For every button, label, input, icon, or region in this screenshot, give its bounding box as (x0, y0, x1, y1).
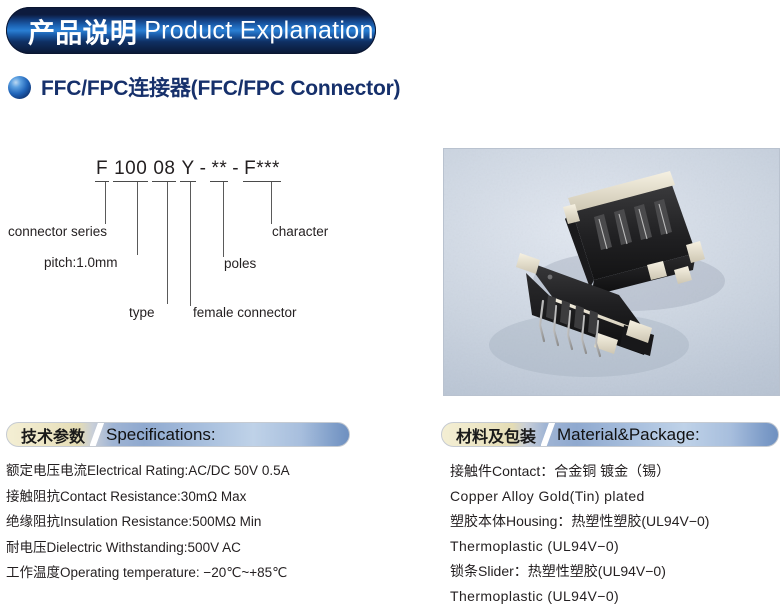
pn-segment-type: 08 (152, 158, 176, 182)
callout-line-female-connector (190, 182, 191, 306)
specifications-list: 额定电压电流Electrical Rating:AC/DC 50V 0.5A 接… (6, 458, 426, 586)
material-row: 塑胶本体Housing：热塑性塑胶(UL94V−0) (450, 509, 780, 534)
spec-row: 工作温度Operating temperature: −20℃~+85℃ (6, 560, 426, 586)
callout-label-poles: poles (224, 256, 256, 271)
material-row: Thermoplastic (UL94V−0) (450, 534, 780, 559)
pn-segment-gender: Y (180, 158, 195, 182)
page-title-english: Product Explanation (144, 16, 373, 44)
callout-line-pitch (137, 182, 138, 255)
callout-label-pitch: pitch:1.0mm (44, 255, 118, 270)
spec-row: 额定电压电流Electrical Rating:AC/DC 50V 0.5A (6, 458, 426, 484)
page-title: 产品说明Product Explanation (28, 11, 374, 50)
pn-segment-character: F*** (243, 158, 281, 182)
section-subheading: FFC/FPC连接器(FFC/FPC Connector) (8, 72, 400, 102)
part-number-diagram: F10008Y-**-F*** connector series charact… (0, 150, 420, 350)
material-row: Copper Alloy Gold(Tin) plated (450, 484, 780, 509)
callout-label-female-connector: female connector (193, 305, 297, 320)
material-package-header-bar: 材料及包装 Material&Package: (441, 422, 779, 447)
material-package-header-chinese: 材料及包装 (456, 423, 536, 447)
pn-segment-series: F (95, 158, 109, 182)
page-title-chinese: 产品说明 (28, 18, 137, 48)
pn-segment-poles: ** (210, 158, 228, 182)
specifications-header-bar: 技术参数 Specifications: (6, 422, 350, 447)
material-package-header-english: Material&Package: (557, 425, 700, 445)
product-photo (443, 148, 780, 396)
header-slash-divider-icon (541, 423, 555, 446)
specifications-header-english: Specifications: (106, 425, 216, 445)
material-row: 锁条Slider：热塑性塑胶(UL94V−0) (450, 559, 780, 584)
callout-line-type (167, 182, 168, 304)
callout-line-connector-series (105, 182, 106, 224)
callout-label-connector-series: connector series (8, 224, 107, 239)
callout-label-type: type (129, 305, 155, 320)
page-title-banner: 产品说明Product Explanation (6, 7, 376, 54)
material-row: 接触件Contact：合金铜 镀金（锡） (450, 459, 780, 484)
connector-illustration (444, 149, 780, 396)
callout-label-character: character (272, 224, 328, 239)
callout-line-poles (223, 182, 224, 257)
callout-line-character (271, 182, 272, 224)
material-package-list: 接触件Contact：合金铜 镀金（锡） Copper Alloy Gold(T… (450, 459, 780, 609)
spec-row: 接触阻抗Contact Resistance:30mΩ Max (6, 484, 426, 510)
part-number-code: F10008Y-**-F*** (95, 158, 281, 180)
header-slash-divider-icon (90, 423, 104, 446)
subheading-label: FFC/FPC连接器(FFC/FPC Connector) (41, 72, 400, 102)
spec-row: 绝缘阻抗Insulation Resistance:500MΩ Min (6, 509, 426, 535)
specifications-header-chinese: 技术参数 (21, 423, 85, 447)
spec-row: 耐电压Dielectric Withstanding:500V AC (6, 535, 426, 561)
sphere-bullet-icon (8, 76, 31, 99)
pn-segment-pitch: 100 (113, 158, 148, 182)
